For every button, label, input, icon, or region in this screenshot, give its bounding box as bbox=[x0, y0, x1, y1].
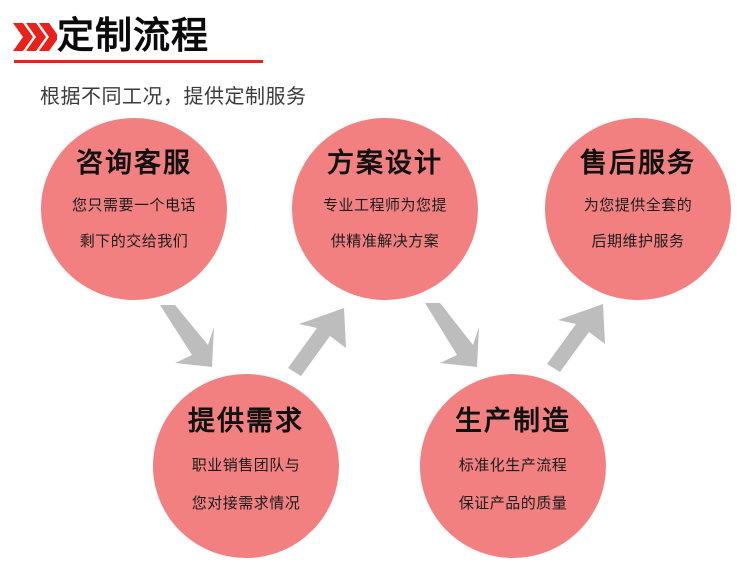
title-underline bbox=[14, 60, 263, 63]
page-title: 定制流程 bbox=[57, 14, 209, 58]
arrow-down-right-icon bbox=[156, 305, 216, 371]
triple-chevron-right-icon bbox=[13, 23, 57, 51]
flow-node-desc-line1: 专业工程师为您提 bbox=[323, 194, 447, 216]
flow-node-title: 生产制造 bbox=[455, 406, 571, 438]
flow-node-scheme-design[interactable]: 方案设计 专业工程师为您提 供精准解决方案 bbox=[292, 118, 478, 300]
flow-node-production-manufacture[interactable]: 生产制造 标准化生产流程 保证产品的质量 bbox=[420, 374, 606, 558]
flow-node-desc-line2: 后期维护服务 bbox=[591, 230, 684, 252]
flow-node-desc-line1: 您只需要一个电话 bbox=[72, 194, 196, 216]
flow-node-desc-line2: 供精准解决方案 bbox=[331, 230, 440, 252]
flow-node-title: 售后服务 bbox=[580, 148, 696, 180]
page-subtitle: 根据不同工况，提供定制服务 bbox=[40, 82, 307, 110]
flow-node-title: 提供需求 bbox=[188, 406, 304, 438]
arrow-down-right-icon bbox=[421, 303, 481, 371]
arrow-up-right-icon bbox=[547, 302, 607, 372]
flow-node-after-sales-service[interactable]: 售后服务 为您提供全套的 后期维护服务 bbox=[545, 118, 731, 300]
flow-node-desc-line1: 为您提供全套的 bbox=[584, 194, 693, 216]
flow-node-desc-line1: 职业销售团队与 bbox=[192, 454, 301, 476]
flow-node-consult-service[interactable]: 咨询客服 您只需要一个电话 剩下的交给我们 bbox=[41, 118, 227, 300]
flow-node-title: 方案设计 bbox=[327, 148, 443, 180]
arrow-up-right-icon bbox=[288, 306, 348, 376]
flow-node-title: 咨询客服 bbox=[76, 148, 192, 180]
flow-node-desc-line1: 标准化生产流程 bbox=[459, 454, 568, 476]
flow-node-desc-line2: 剩下的交给我们 bbox=[80, 230, 189, 252]
flow-node-desc-line2: 您对接需求情况 bbox=[192, 492, 301, 514]
flow-node-provide-requirement[interactable]: 提供需求 职业销售团队与 您对接需求情况 bbox=[153, 374, 339, 558]
page-header: 定制流程 根据不同工况，提供定制服务 bbox=[0, 0, 750, 118]
flowchart-canvas: 定制流程 根据不同工况，提供定制服务 咨询客服 您只需要一个电话 剩下的交给我们… bbox=[0, 0, 750, 576]
flow-node-desc-line2: 保证产品的质量 bbox=[459, 492, 568, 514]
